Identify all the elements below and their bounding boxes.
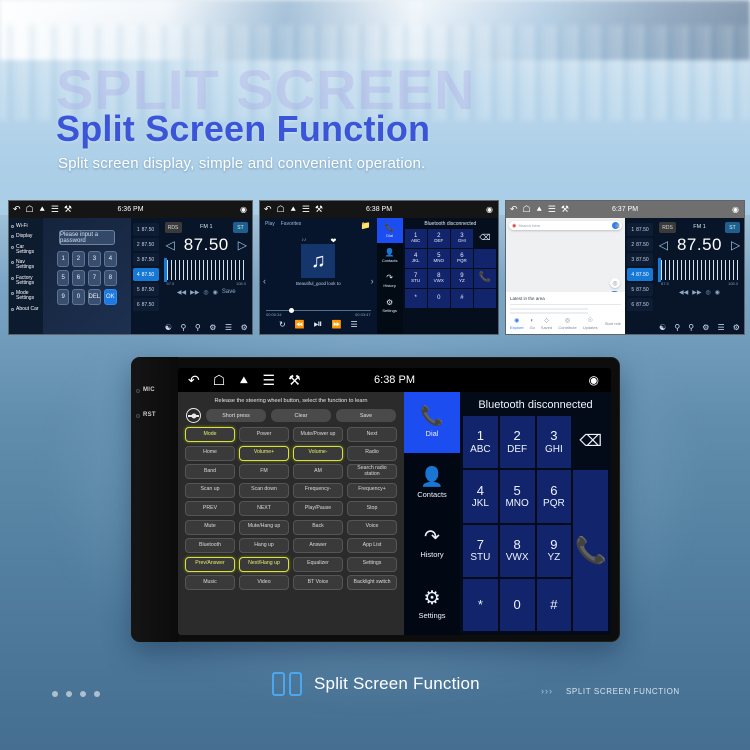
stereo-button[interactable]: ST (233, 222, 248, 233)
dialer-keypad[interactable]: 1ABC2DEF3GHI⌫4JKL5MNO6PQR📞7STU8VWX9YZ*0# (460, 416, 611, 635)
key-2[interactable]: 2DEF (428, 229, 450, 248)
function-button[interactable]: Play/Pause (293, 501, 343, 516)
function-grid[interactable]: ModePowerMute/Power upNextHomeVolume+Vol… (183, 427, 399, 590)
eq-icon[interactable]: ☰ (717, 323, 724, 332)
usb-icon[interactable]: ⚒ (288, 373, 301, 387)
rds-button[interactable]: RDS (659, 222, 676, 233)
tuner-scale[interactable] (661, 260, 738, 280)
status-bar: ↶ ☖ ⯅ ☰ ⚒ 6:38 PM ◉ (178, 368, 611, 392)
keypad-key[interactable]: 8 (104, 270, 116, 286)
key-1[interactable]: 1ABC (463, 416, 498, 468)
function-button[interactable]: Prev/Answer (185, 557, 235, 572)
repeat-icon[interactable]: ↻ (279, 320, 286, 329)
function-button[interactable]: Scan up (185, 483, 235, 498)
radio-preset[interactable]: 187.50 (133, 223, 159, 236)
head-unit-device: MIC RST ↶ ☖ ⯅ ☰ ⚒ 6:38 PM ◉ Release the … (131, 357, 620, 642)
chevron-up-icon[interactable]: ⯅ (290, 205, 297, 214)
prev-track-icon[interactable]: ‹ (263, 276, 266, 286)
scan-icon[interactable]: ◉ (715, 289, 720, 296)
system-nav-icons[interactable]: ↶ ☖ ⯅ ☰ ⚒ (188, 373, 301, 387)
thumb1-settings-pane: Wi-Fi Display Car Settings Nav Settings … (9, 218, 131, 334)
key-number: 8 (514, 538, 521, 552)
function-button[interactable]: Mode (185, 427, 235, 442)
music-player: Play Favorites 📁 ♪♪ ❤♫ Beautiful_good lo… (260, 218, 377, 334)
location-pin-icon[interactable]: ◉ (240, 205, 247, 214)
next-track-icon[interactable]: › (371, 276, 374, 286)
radio-main: RDS ST FM 1 ◁ 87.50 ▷ 87.5 108.0 ◀◀ ▶▶ ◎ (655, 218, 744, 334)
map-card-title: Latest in the area (510, 296, 621, 301)
seek-bar[interactable] (266, 310, 371, 311)
sidebar-item-contacts[interactable]: 👤Contacts (377, 243, 403, 268)
thumb3-nav-icons[interactable]: ↶ ☖ ⯅ ☰ ⚒ (510, 205, 569, 214)
loc-icon[interactable]: ◎ (203, 289, 208, 296)
key-4[interactable]: 4JKL (463, 470, 498, 522)
function-button[interactable]: Next (347, 427, 397, 442)
clear-button[interactable]: Clear (271, 409, 331, 422)
bell-icon: ☉ (587, 317, 592, 324)
map-bottom-nav[interactable]: ◉Explore ◐Go ◇Saved ◎Contribute ☉Updates… (510, 317, 621, 330)
key-number: 4 (477, 484, 484, 498)
keypad-key[interactable]: 6 (72, 270, 84, 286)
swc-toolbar: Short press Clear Save (183, 408, 399, 427)
call-icon[interactable]: 📞 (474, 269, 496, 288)
keypad-key[interactable]: 0 (72, 289, 84, 305)
tuner-scale[interactable] (167, 260, 247, 280)
radio-preset-active[interactable]: 487.50 (627, 268, 653, 281)
split-screen-icon (272, 672, 302, 696)
key-number: 1 (477, 429, 484, 443)
radio-preset[interactable]: 387.50 (133, 253, 159, 266)
start-ride-label[interactable]: Start ride (605, 321, 621, 326)
keypad-key[interactable]: 9 (57, 289, 69, 305)
key-number: 9 (550, 538, 557, 552)
function-button[interactable]: Frequency+ (347, 483, 397, 498)
bt-icon[interactable]: ☯ (165, 323, 172, 332)
function-button[interactable]: Mute/Power up (293, 427, 343, 442)
chevron-up-icon[interactable]: ⯅ (238, 373, 249, 387)
chevron-up-icon[interactable]: ⯅ (39, 205, 46, 214)
dialer-main: Bluetooth disconnected 1ABC2DEF3GHI⌫4JKL… (460, 392, 611, 635)
key-6[interactable]: 6PQR (537, 470, 572, 522)
home-icon[interactable]: ☖ (26, 205, 34, 214)
next-icon[interactable]: ⏩ (331, 320, 341, 329)
back-icon[interactable]: ↶ (188, 373, 200, 387)
steering-wheel-learn-pane: Release the steering wheel button, selec… (178, 392, 404, 635)
function-button[interactable]: Voice (347, 520, 397, 535)
playlist-icon[interactable]: ☰ (350, 320, 357, 329)
loc-icon[interactable]: ◎ (705, 289, 710, 296)
key-8[interactable]: 8VWX (500, 525, 535, 577)
location-pin-icon[interactable]: ◉ (589, 373, 599, 387)
nav-item-updates[interactable]: ☉Updates (583, 317, 598, 330)
prev-icon[interactable]: ◀◀ (679, 289, 688, 296)
nav-icon (11, 261, 14, 264)
function-button[interactable]: Backlight switch (347, 575, 397, 590)
function-button[interactable]: Equalizer (293, 557, 343, 572)
back-icon[interactable]: ↶ (13, 205, 21, 214)
function-button[interactable]: Frequency- (293, 483, 343, 498)
plus-icon: ◎ (565, 317, 570, 324)
pagination-dot[interactable] (66, 691, 72, 697)
key-5[interactable]: 5MNO (428, 249, 450, 268)
radio-mini-controls[interactable]: ◀◀ ▶▶ ◎ ◉ Save (161, 289, 253, 296)
sidebar-item-history[interactable]: ↷History (377, 268, 403, 293)
settings-icon[interactable]: ⚙ (702, 323, 709, 332)
password-keypad[interactable]: 1 2 3 4 5 6 7 8 9 0 DEL OK (53, 251, 121, 305)
location-pin-icon[interactable]: ◉ (732, 205, 739, 214)
function-button[interactable]: Music (185, 575, 235, 590)
frequency-value: 87.50 (184, 235, 229, 255)
reset-hole-icon[interactable] (136, 414, 140, 418)
nav-item-contribute[interactable]: ◎Contribute (558, 317, 576, 330)
settings-menu[interactable]: Wi-Fi Display Car Settings Nav Settings … (9, 218, 43, 334)
sidebar-item-contacts[interactable]: 👤 Contacts (404, 453, 460, 514)
split-screen-body: Release the steering wheel button, selec… (178, 392, 611, 635)
frequency-row: ◁ 87.50 ▷ (161, 235, 253, 255)
search-icon[interactable]: ⚲ (180, 323, 186, 332)
function-button[interactable]: BT Voice (293, 575, 343, 590)
radio-preset[interactable]: 387.50 (627, 253, 653, 266)
seek-area[interactable]: 00:00:34 00:03:47 (266, 310, 371, 317)
thumbnail-music-dialer[interactable]: ↶ ☖ ⯅ ☰ ⚒ 6:38 PM ◉ Play Favorites 📁 ♪♪ … (259, 200, 499, 335)
key-6[interactable]: 6PQR (451, 249, 473, 268)
function-button[interactable]: Volume+ (239, 446, 289, 461)
call-log-icon: ↷ (386, 274, 393, 282)
more-icon[interactable]: ⚙ (733, 323, 740, 332)
key-#[interactable]: # (537, 579, 572, 631)
settings-item[interactable]: Wi-Fi (9, 221, 43, 231)
key-letters: STU (470, 552, 490, 563)
radio-preset[interactable]: 587.50 (627, 283, 653, 296)
tune-up-icon[interactable]: ▷ (238, 238, 247, 252)
split-rect-left (272, 672, 285, 696)
pause-icon[interactable]: ⏯ (314, 318, 323, 331)
settings-item[interactable]: Car Settings (9, 242, 43, 258)
person-icon: 👤 (385, 249, 395, 257)
reset-label[interactable]: RST (143, 412, 156, 418)
scale-labels: 87.5 108.0 (655, 280, 744, 287)
bluetooth-status: Bluetooth disconnected (460, 392, 611, 416)
key-letters: JKL (472, 498, 489, 509)
function-button[interactable]: NEXT (239, 501, 289, 516)
map-compass-icon[interactable]: ◎ (610, 278, 620, 288)
seek-times: 00:00:34 00:03:47 (266, 312, 371, 317)
favorite-icon[interactable]: ❤ (330, 237, 336, 245)
tab-favorites[interactable]: Favorites (281, 221, 302, 227)
bt-icon[interactable]: ☯ (659, 323, 666, 332)
album-art: ♪♪ ❤♫ (301, 244, 335, 278)
key-blank (474, 249, 496, 268)
function-button[interactable]: Search radio station (347, 464, 397, 479)
key-7[interactable]: 7STU (463, 525, 498, 577)
settings-item[interactable]: Factory Settings (9, 273, 43, 289)
nav-item-saved[interactable]: ◇Saved (541, 317, 552, 330)
settings-item[interactable]: Display (9, 231, 43, 241)
radio-preset[interactable]: 287.50 (133, 238, 159, 251)
radio-app-bar[interactable]: ☯ ⚲ ⚲ ⚙ ☰ ⚙ (161, 323, 253, 332)
radio-preset[interactable]: 687.50 (627, 298, 653, 311)
thumb2-nav-icons[interactable]: ↶ ☖ ⯅ ☰ ⚒ (264, 205, 323, 214)
key-4[interactable]: 4JKL (405, 249, 427, 268)
key-1[interactable]: 1ABC (405, 229, 427, 248)
pagination-dot[interactable] (80, 691, 86, 697)
keypad-delete-key[interactable]: DEL (88, 289, 102, 305)
thumb3-clock: 6:37 PM (612, 206, 638, 213)
chevron-up-icon[interactable]: ⯅ (536, 205, 543, 214)
back-icon[interactable]: ↶ (264, 205, 272, 214)
lyrics-icon: ♪♪ (301, 237, 306, 243)
usb-icon[interactable]: ⚒ (315, 205, 323, 214)
home-icon[interactable]: ☖ (277, 205, 285, 214)
caption-title: Split Screen Function (314, 674, 480, 694)
menu-icon[interactable]: ☰ (263, 373, 276, 387)
key-number: 7 (477, 538, 484, 552)
function-button[interactable]: Radio (347, 446, 397, 461)
function-button[interactable]: Answer (293, 538, 343, 553)
thumb2-body: Play Favorites 📁 ♪♪ ❤♫ Beautiful_good lo… (260, 218, 498, 334)
nav-item-go[interactable]: ◐Go (530, 318, 535, 330)
call-log-icon: ↷ (424, 528, 440, 547)
display-icon (11, 235, 14, 238)
search-input[interactable]: Search here (518, 223, 610, 228)
key-letters: GHI (545, 444, 563, 455)
pagination-dots[interactable] (52, 691, 100, 697)
tune-up-icon[interactable]: ▷ (731, 238, 740, 252)
next-icon[interactable]: ▶▶ (692, 289, 701, 296)
sidebar-item-label: History (420, 550, 443, 559)
dialer-sidebar[interactable]: 📞Dial 👤Contacts ↷History ⚙Settings (377, 218, 403, 334)
backspace-icon[interactable]: ⌫ (474, 229, 496, 248)
thumbnail-map-radio[interactable]: ↶ ☖ ⯅ ☰ ⚒ 6:37 PM ◉ ◉ Search here ▣ ◎ ➤ … (505, 200, 745, 335)
key-hash[interactable]: # (451, 289, 473, 308)
password-input[interactable]: Please input a password (59, 230, 115, 245)
function-button[interactable]: Hang up (239, 538, 289, 553)
sidebar-item-settings[interactable]: ⚙ Settings (404, 574, 460, 635)
save-icon[interactable]: Save (222, 289, 236, 296)
map-info-card: Latest in the area ◉Explore ◐Go ◇Saved ◎… (506, 292, 625, 334)
sidebar-item-dial[interactable]: 📞 Dial (404, 392, 460, 453)
radio-preset[interactable]: 687.50 (133, 298, 159, 311)
thumb1-body: Wi-Fi Display Car Settings Nav Settings … (9, 218, 252, 334)
key-letters: MNO (505, 498, 528, 509)
sidebar-item-settings[interactable]: ⚙Settings (377, 293, 403, 318)
radio-app-bar[interactable]: ☯ ⚲ ⚲ ⚙ ☰ ⚙ (655, 323, 744, 332)
key-letters: ABC (470, 444, 491, 455)
settings-item[interactable]: Mode Settings (9, 288, 43, 304)
mic-label: MIC (143, 387, 155, 393)
key-number: 3 (550, 429, 557, 443)
radio-preset[interactable]: 187.50 (627, 223, 653, 236)
thumbnail-settings-radio[interactable]: ↶ ☖ ⯅ ☰ ⚒ 6:36 PM ◉ Wi-Fi Display Car Se… (8, 200, 253, 335)
function-button[interactable]: Video (239, 575, 289, 590)
function-button[interactable]: Mute (185, 520, 235, 535)
key-star[interactable]: * (405, 289, 427, 308)
function-button[interactable]: Stop (347, 501, 397, 516)
caption-chevrons: ››› (541, 686, 553, 696)
thumb1-nav-icons[interactable]: ↶ ☖ ⯅ ☰ ⚒ (13, 205, 72, 214)
search-pin-icon: ◉ (512, 223, 516, 229)
gear-icon: ⚙ (386, 299, 393, 307)
settings-item[interactable]: About Car (9, 304, 43, 314)
short-press-button[interactable]: Short press (206, 409, 266, 422)
function-button[interactable]: Band (185, 464, 235, 479)
back-icon[interactable]: ↶ (510, 205, 518, 214)
steering-wheel-icon (186, 408, 201, 423)
function-button[interactable]: Volume- (293, 446, 343, 461)
next-icon[interactable]: ▶▶ (190, 289, 199, 296)
function-button[interactable]: Power (239, 427, 289, 442)
page-title: Split Screen Function (56, 108, 430, 150)
tune-down-icon[interactable]: ◁ (165, 238, 174, 252)
scale-low: 87.5 (661, 281, 669, 286)
clock: 6:38 PM (374, 374, 415, 386)
key-number: 6 (550, 484, 557, 498)
key-8[interactable]: 8VWX (428, 269, 450, 288)
function-button[interactable]: Next/Hang up (239, 557, 289, 572)
tab-play[interactable]: Play (265, 221, 275, 227)
dialer-sidebar[interactable]: 📞 Dial 👤 Contacts ↷ History ⚙ Settings (404, 392, 460, 635)
radio-preset-list[interactable]: 187.50 287.50 387.50 487.50 587.50 687.5… (625, 218, 655, 334)
keypad-key[interactable]: 7 (88, 270, 102, 286)
keypad-key[interactable]: 2 (72, 251, 84, 267)
backspace-icon[interactable]: ⌫ (573, 416, 608, 468)
menu-icon[interactable]: ☰ (51, 205, 59, 214)
sidebar-item-label: Contacts (417, 490, 447, 499)
placeholder-line (510, 312, 588, 314)
key-2[interactable]: 2DEF (500, 416, 535, 468)
mode-icon (11, 292, 14, 295)
song-title: Beautiful_good look to (260, 281, 377, 286)
keypad-key[interactable]: 4 (104, 251, 116, 267)
function-button[interactable]: Mute/Hang up (239, 520, 289, 535)
map-app[interactable]: ◉ Search here ▣ ◎ ➤ Latest in the area ◉… (506, 218, 625, 334)
radio-preset[interactable]: 587.50 (133, 283, 159, 296)
key-number: 5 (514, 484, 521, 498)
thumb1-clock: 6:36 PM (117, 206, 143, 213)
home-icon[interactable]: ☖ (213, 373, 226, 387)
keypad-ok-key[interactable]: OK (104, 289, 116, 305)
function-button[interactable]: PREV (185, 501, 235, 516)
page-subtitle: Split screen display, simple and conveni… (58, 155, 425, 172)
stereo-button[interactable]: ST (725, 222, 740, 233)
key-0[interactable]: 0 (500, 579, 535, 631)
settings-icon[interactable]: ⚙ (209, 323, 216, 332)
factory-icon (11, 277, 14, 280)
radio-mini-controls[interactable]: ◀◀ ▶▶ ◎ ◉ (655, 289, 744, 296)
radio-main: RDS ST FM 1 ◁ 87.50 ▷ 87.5 108.0 ◀◀ ▶▶ ◎ (161, 218, 253, 334)
keypad-key[interactable]: 5 (57, 270, 69, 286)
key-3[interactable]: 3GHI (537, 416, 572, 468)
search-icon[interactable]: ⚲ (674, 323, 680, 332)
more-icon[interactable]: ⚙ (241, 323, 248, 332)
menu-icon[interactable]: ☰ (302, 205, 310, 214)
function-button[interactable]: App List (347, 538, 397, 553)
thumb1-radio-pane: 187.50 287.50 387.50 487.50 587.50 687.5… (131, 218, 253, 334)
frequency-row: ◁ 87.50 ▷ (655, 235, 744, 255)
pin-icon: ◉ (514, 317, 519, 324)
sidebar-item-label: Dial (426, 429, 439, 438)
mic-hole-icon (136, 389, 140, 393)
device-left-bezel: MIC RST (131, 357, 178, 642)
eq-icon[interactable]: ☰ (225, 323, 232, 332)
scan-icon[interactable]: ◉ (213, 289, 218, 296)
nav-item-explore[interactable]: ◉Explore (510, 317, 524, 330)
function-button[interactable]: Settings (347, 557, 397, 572)
map-layers-icon[interactable]: ▣ (615, 223, 620, 229)
phone-icon: 📞 (385, 224, 395, 232)
scale-high: 108.0 (728, 281, 738, 286)
zoom-icon[interactable]: ⚲ (688, 323, 694, 332)
music-tabs[interactable]: Play Favorites (260, 218, 377, 230)
bluetooth-status: Bluetooth disconnected (403, 218, 498, 229)
prev-icon[interactable]: ◀◀ (177, 289, 186, 296)
radio-preset-active[interactable]: 487.50 (133, 268, 159, 281)
radio-preset[interactable]: 287.50 (627, 238, 653, 251)
sidebar-item-history[interactable]: ↷ History (404, 514, 460, 575)
settings-item[interactable]: Nav Settings (9, 257, 43, 273)
call-button[interactable]: 📞 (573, 470, 608, 631)
thumb-keypad[interactable]: 1ABC 2DEF 3GHI ⌫ 4JKL 5MNO 6PQR 7STU 8VW… (403, 229, 498, 308)
car-icon: ◐ (530, 318, 534, 324)
function-button[interactable]: AM (293, 464, 343, 479)
zoom-icon[interactable]: ⚲ (195, 323, 201, 332)
thumb2-topbar: ↶ ☖ ⯅ ☰ ⚒ 6:38 PM ◉ (260, 201, 498, 218)
rds-button[interactable]: RDS (165, 222, 182, 233)
map-search-bar[interactable]: ◉ Search here (509, 221, 622, 230)
sidebar-item-dial[interactable]: 📞Dial (377, 218, 403, 243)
key-letters: DEF (507, 444, 527, 455)
sidebar-item-label: Settings (418, 611, 445, 620)
key-3[interactable]: 3GHI (451, 229, 473, 248)
folder-icon[interactable]: 📁 (361, 221, 371, 230)
home-icon[interactable]: ☖ (523, 205, 531, 214)
key-9[interactable]: 9YZ (537, 525, 572, 577)
menu-icon[interactable]: ☰ (548, 205, 556, 214)
function-button[interactable]: FM (239, 464, 289, 479)
function-button[interactable]: Back (293, 520, 343, 535)
prev-icon[interactable]: ⏪ (295, 320, 305, 329)
key-0[interactable]: 0 (428, 289, 450, 308)
function-button[interactable]: Bluetooth (185, 538, 235, 553)
key-9[interactable]: 9YZ (451, 269, 473, 288)
key-5[interactable]: 5MNO (500, 470, 535, 522)
scale-labels: 87.5 108.0 (161, 280, 253, 287)
usb-icon[interactable]: ⚒ (561, 205, 569, 214)
usb-icon[interactable]: ⚒ (64, 205, 72, 214)
function-button[interactable]: Scan down (239, 483, 289, 498)
key-*[interactable]: * (463, 579, 498, 631)
keypad-key[interactable]: 3 (88, 251, 102, 267)
bookmark-icon: ◇ (544, 317, 549, 324)
thumb3-radio-pane: 187.50 287.50 387.50 487.50 587.50 687.5… (625, 218, 744, 334)
music-controls[interactable]: ↻ ⏪ ⏯ ⏩ ☰ (260, 318, 377, 331)
tune-down-icon[interactable]: ◁ (659, 238, 668, 252)
seek-handle[interactable] (289, 308, 294, 313)
keypad-key[interactable]: 1 (57, 251, 69, 267)
key-number: * (478, 598, 483, 612)
elapsed-time: 00:00:34 (266, 312, 282, 317)
pagination-dot[interactable] (94, 691, 100, 697)
location-pin-icon[interactable]: ◉ (486, 205, 493, 214)
scale-low: 87.5 (167, 281, 175, 286)
radio-preset-list[interactable]: 187.50 287.50 387.50 487.50 587.50 687.5… (131, 218, 161, 334)
function-button[interactable]: Home (185, 446, 235, 461)
pagination-dot[interactable] (52, 691, 58, 697)
key-letters: YZ (547, 552, 560, 563)
save-button[interactable]: Save (336, 409, 396, 422)
key-blank (474, 289, 496, 308)
key-7[interactable]: 7STU (405, 269, 427, 288)
